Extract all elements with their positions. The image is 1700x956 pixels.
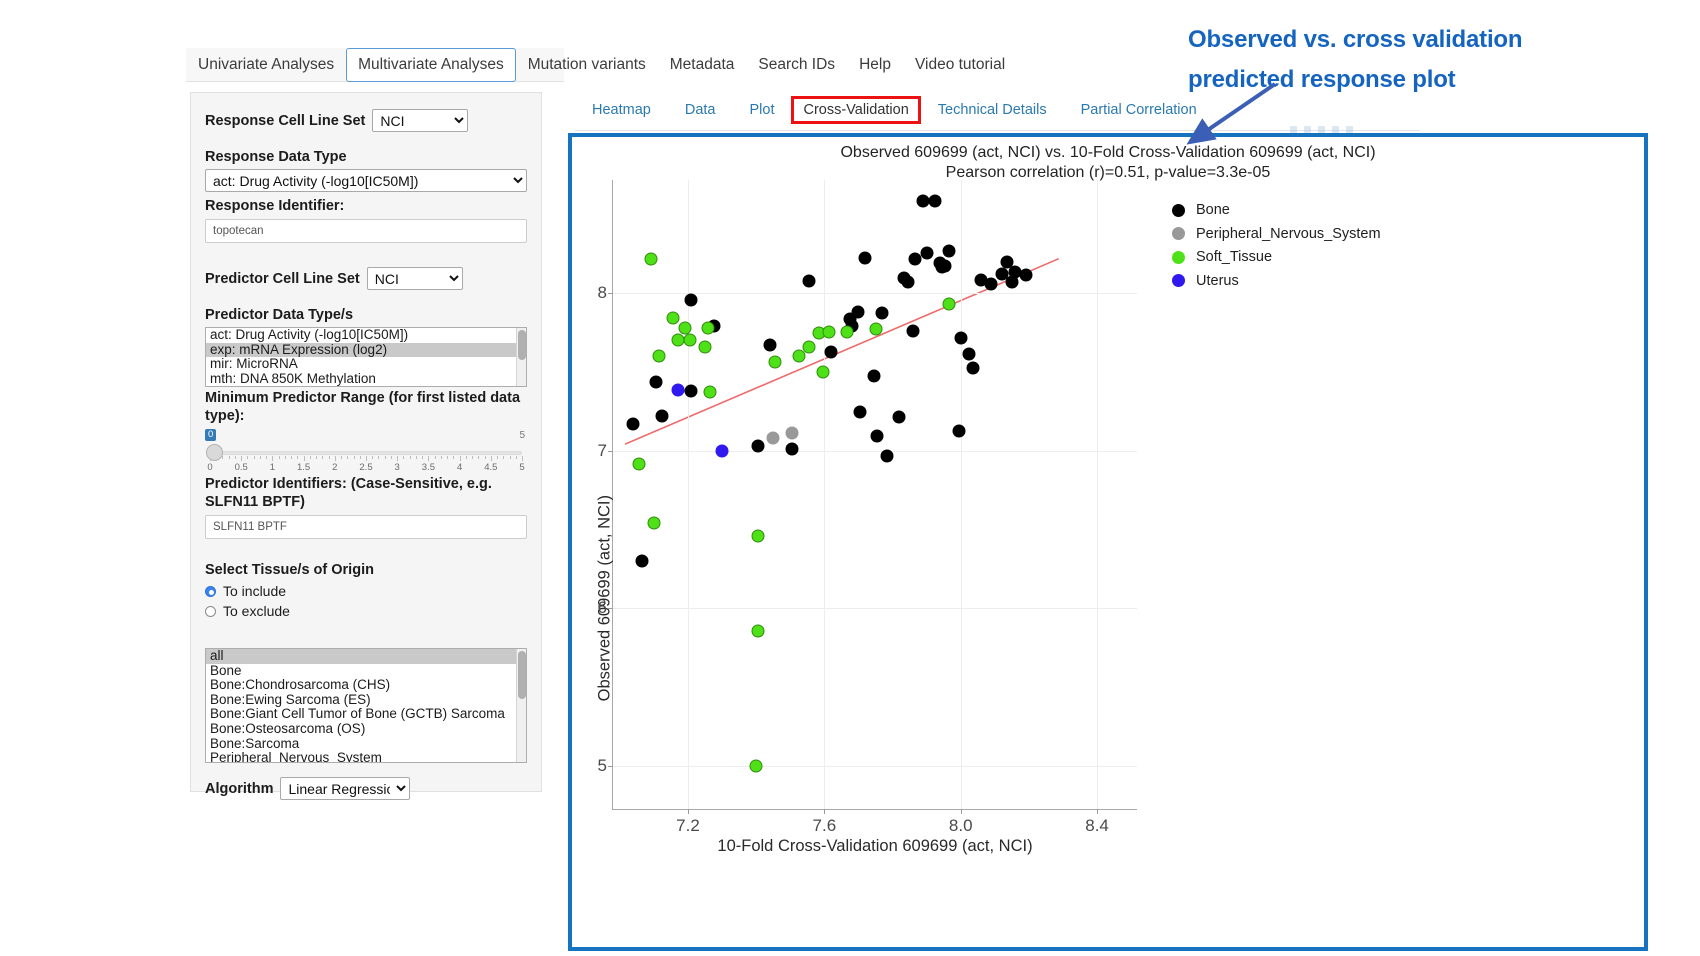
slider-tick: [460, 456, 461, 461]
scrollbar-thumb[interactable]: [518, 330, 526, 360]
response-identifier-label: Response Identifier:: [205, 197, 527, 215]
tissue-mode-radio-to-include[interactable]: To include: [205, 583, 527, 599]
nav-tab-univariate-analyses[interactable]: Univariate Analyses: [186, 48, 346, 82]
response-cell-line-set-select[interactable]: NCI: [372, 109, 468, 132]
slider-tick-label: 2.5: [359, 462, 372, 473]
slider-tick: [354, 456, 355, 459]
scatter-point-soft_tissue: [683, 333, 696, 346]
y-gridline: [613, 451, 1137, 452]
slider-tick: [304, 456, 305, 461]
nav-tab-mutation-variants[interactable]: Mutation variants: [516, 48, 658, 82]
tissue-option[interactable]: Peripheral_Nervous_System: [206, 751, 526, 763]
slider-tick: [428, 456, 429, 461]
legend-label: Bone: [1196, 202, 1230, 218]
scatter-point-bone: [954, 332, 967, 345]
y-tick-mark: [608, 766, 613, 767]
tissue-scrollbar[interactable]: [516, 649, 526, 762]
slider-tick: [291, 456, 292, 459]
scatter-point-soft_tissue: [750, 759, 763, 772]
slider-tick: [222, 456, 223, 459]
legend-item-soft_tissue[interactable]: Soft_Tissue: [1172, 246, 1381, 269]
slider-tick: [485, 456, 486, 459]
scatter-point-bone: [920, 247, 933, 260]
slider-tick: [360, 456, 361, 459]
slider-value-bubble: 0: [205, 429, 216, 441]
slider-tick-label: 3.5: [422, 462, 435, 473]
x-tick-label: 7.2: [676, 816, 700, 836]
slider-tick: [297, 456, 298, 459]
slider-tick-labels: 00.511.522.533.544.55: [205, 462, 527, 476]
slider-track[interactable]: [210, 451, 522, 455]
tissue-option[interactable]: Bone:Osteosarcoma (OS): [206, 722, 526, 737]
scatter-point-bone: [852, 305, 865, 318]
scatter-point-soft_tissue: [647, 516, 660, 529]
nav-tab-multivariate-analyses[interactable]: Multivariate Analyses: [346, 48, 516, 82]
slider-tick: [441, 456, 442, 459]
scatter-point-bone: [881, 450, 894, 463]
scatter-point-bone: [685, 294, 698, 307]
subtab-cross-validation[interactable]: Cross-Validation: [791, 96, 920, 124]
x-tick-mark: [1097, 809, 1098, 814]
annotation-arrow-icon: [1175, 78, 1285, 148]
x-tick-label: 8.4: [1085, 816, 1109, 836]
x-gridline: [1097, 180, 1098, 809]
subtab-technical-details[interactable]: Technical Details: [921, 95, 1064, 125]
subtab-heatmap[interactable]: Heatmap: [575, 95, 668, 125]
plot-legend: BonePeripheral_Nervous_SystemSoft_Tissue…: [1172, 199, 1381, 293]
slider-tick: [503, 456, 504, 459]
scatter-point-bone: [901, 275, 914, 288]
controls-sidebar: Response Cell Line Set NCI Response Data…: [190, 92, 542, 792]
x-tick-mark: [688, 809, 689, 814]
scatter-point-uterus: [671, 384, 684, 397]
legend-label: Soft_Tissue: [1196, 249, 1272, 265]
scatter-point-bone: [751, 440, 764, 453]
slider-tick: [235, 456, 236, 459]
slider-tick: [491, 456, 492, 461]
predictor-data-type-option[interactable]: mth: DNA 850K Methylation: [206, 372, 526, 387]
y-gridline: [613, 608, 1137, 609]
scatter-point-bone: [859, 251, 872, 264]
x-axis-label: 10-Fold Cross-Validation 609699 (act, NC…: [717, 837, 1032, 856]
algorithm-row: Algorithm Linear Regression: [205, 777, 527, 800]
predictor-data-types-listbox[interactable]: act: Drug Activity (-log10[IC50M])exp: m…: [205, 327, 527, 387]
slider-tick: [447, 456, 448, 459]
slider-tick: [466, 456, 467, 459]
predictor-data-types-label: Predictor Data Type/s: [205, 306, 527, 324]
scatter-point-bone: [929, 195, 942, 208]
slider-tick: [397, 456, 398, 461]
slider-tick: [310, 456, 311, 459]
scatter-point-uterus: [716, 444, 729, 457]
slider-handle[interactable]: [206, 444, 223, 461]
slider-tick: [341, 456, 342, 459]
x-tick-mark: [961, 809, 962, 814]
scatter-point-soft_tissue: [942, 297, 955, 310]
predictor-identifiers-input[interactable]: [205, 515, 527, 539]
subtab-plot[interactable]: Plot: [732, 95, 791, 125]
slider-tick: [366, 456, 367, 461]
slider-tick-label: 0: [207, 462, 212, 473]
nav-tab-video-tutorial[interactable]: Video tutorial: [903, 48, 1017, 82]
y-gridline: [613, 766, 1137, 767]
scatter-point-bone: [963, 348, 976, 361]
slider-max-label: 5: [519, 430, 525, 441]
slider-tick-label: 4.5: [484, 462, 497, 473]
scatter-point-soft_tissue: [823, 325, 836, 338]
main-nav-tabs: Univariate AnalysesMultivariate Analyses…: [186, 48, 1017, 82]
nav-tab-metadata[interactable]: Metadata: [658, 48, 747, 82]
slider-tick: [335, 456, 336, 461]
slider-tick: [241, 456, 242, 461]
response-cell-line-set-row: Response Cell Line Set NCI: [205, 109, 527, 132]
slider-tick: [478, 456, 479, 459]
slider-tick: [410, 456, 411, 459]
legend-item-uterus[interactable]: Uterus: [1172, 270, 1381, 293]
scatter-point-bone: [825, 346, 838, 359]
analysis-subtabs: HeatmapDataPlotCross-ValidationTechnical…: [575, 95, 1214, 125]
slider-tick: [285, 456, 286, 459]
slider-tick: [279, 456, 280, 459]
scatter-point-soft_tissue: [869, 322, 882, 335]
slider-tick: [372, 456, 373, 459]
scatter-point-bone: [907, 325, 920, 338]
tissue-option[interactable]: all: [206, 649, 526, 664]
scatter-point-soft_tissue: [768, 355, 781, 368]
tissue-option[interactable]: Bone: [206, 664, 526, 679]
y-tick-mark: [608, 451, 613, 452]
scatter-point-soft_tissue: [632, 458, 645, 471]
slider-tick: [416, 456, 417, 459]
y-tick-label: 5: [598, 756, 607, 776]
x-gridline: [688, 180, 689, 809]
scatter-point-bone: [785, 443, 798, 456]
app-root: Univariate AnalysesMultivariate Analyses…: [0, 0, 1700, 956]
tissue-mode-label: To include: [223, 583, 286, 599]
scatter-point-bone: [763, 338, 776, 351]
scatter-point-soft_tissue: [653, 350, 666, 363]
slider-tick-label: 1: [270, 462, 275, 473]
scatter-point-soft_tissue: [666, 311, 679, 324]
cross-validation-plot-panel: Observed 609699 (act, NCI) vs. 10-Fold C…: [568, 133, 1648, 951]
slider-tick: [247, 456, 248, 459]
scatter-point-soft_tissue: [840, 325, 853, 338]
slider-tick: [266, 456, 267, 459]
scatter-point-soft_tissue: [702, 322, 715, 335]
legend-dot-icon: [1172, 227, 1185, 240]
annotation-line-1: Observed vs. cross validation: [1188, 20, 1588, 60]
slider-tick: [385, 456, 386, 459]
min-predictor-range-label: Minimum Predictor Range (for first liste…: [205, 389, 527, 425]
scatter-point-bone: [627, 418, 640, 431]
predictor-cell-line-set-select[interactable]: NCI: [367, 267, 463, 290]
legend-item-bone[interactable]: Bone: [1172, 199, 1381, 222]
scatter-point-soft_tissue: [699, 340, 712, 353]
plot-title: Observed 609699 (act, NCI) vs. 10-Fold C…: [572, 143, 1644, 163]
predictor-identifiers-label: Predictor Identifiers: (Case-Sensitive, …: [205, 475, 527, 511]
slider-tick: [472, 456, 473, 459]
slider-tick: [316, 456, 317, 459]
legend-dot-icon: [1172, 204, 1185, 217]
scatter-point-soft_tissue: [751, 529, 764, 542]
legend-label: Peripheral_Nervous_System: [1196, 226, 1381, 242]
scatter-point-bone: [939, 259, 952, 272]
predictor-data-type-option[interactable]: mir: MicroRNA: [206, 357, 526, 372]
slider-tick-label: 4: [457, 462, 462, 473]
scatter-point-soft_tissue: [803, 340, 816, 353]
tissue-option[interactable]: Bone:Ewing Sarcoma (ES): [206, 693, 526, 708]
tissue-mode-radio-to-exclude[interactable]: To exclude: [205, 603, 527, 619]
scatter-point-bone: [1019, 269, 1032, 282]
slider-tick: [403, 456, 404, 459]
x-tick-label: 7.6: [813, 816, 837, 836]
predictor-cell-line-set-label: Predictor Cell Line Set: [205, 270, 360, 288]
predictor-data-types-scrollbar[interactable]: [516, 328, 526, 386]
min-predictor-range-slider[interactable]: 0 5 00.511.522.533.544.55: [205, 429, 527, 475]
slider-tick: [422, 456, 423, 459]
slider-tick-label: 2: [332, 462, 337, 473]
legend-item-peripheral_nervous_system[interactable]: Peripheral_Nervous_System: [1172, 223, 1381, 246]
radio-icon[interactable]: [205, 586, 216, 597]
y-tick-label: 6: [598, 598, 607, 618]
slider-tick: [522, 456, 523, 461]
slider-tick-label: 0.5: [235, 462, 248, 473]
tissue-option[interactable]: Bone:Sarcoma: [206, 737, 526, 752]
predictor-data-type-option[interactable]: exp: mRNA Expression (log2): [206, 343, 526, 358]
tissue-option[interactable]: Bone:Giant Cell Tumor of Bone (GCTB) Sar…: [206, 707, 526, 722]
x-tick-mark: [824, 809, 825, 814]
plot-axes: Observed 609699 (act, NCI) 10-Fold Cross…: [612, 180, 1137, 810]
scatter-point-soft_tissue: [816, 366, 829, 379]
slider-tick: [229, 456, 230, 459]
nav-tab-help[interactable]: Help: [847, 48, 903, 82]
scatter-point-bone: [871, 429, 884, 442]
nav-tab-search-ids[interactable]: Search IDs: [746, 48, 847, 82]
scatter-point-bone: [685, 385, 698, 398]
response-data-type-label: Response Data Type: [205, 148, 527, 166]
scatter-point-bone: [656, 410, 669, 423]
scatter-point-soft_tissue: [704, 385, 717, 398]
slider-tick: [260, 456, 261, 459]
tissue-of-origin-label: Select Tissue/s of Origin: [205, 561, 527, 579]
slider-tick: [378, 456, 379, 459]
regression-fit-line: [613, 180, 1137, 809]
slider-tick: [347, 456, 348, 459]
slider-tick: [497, 456, 498, 459]
tissue-option[interactable]: Bone:Chondrosarcoma (CHS): [206, 678, 526, 693]
scatter-point-bone: [867, 370, 880, 383]
tissue-mode-radio-group: To includeTo exclude: [205, 583, 527, 619]
y-tick-label: 7: [598, 441, 607, 461]
predictor-cell-line-set-row: Predictor Cell Line Set NCI: [205, 267, 527, 290]
y-tick-label: 8: [598, 283, 607, 303]
scatter-point-bone: [635, 555, 648, 568]
slider-tick: [322, 456, 323, 459]
scrollbar-thumb[interactable]: [518, 651, 526, 699]
scatter-point-bone: [854, 406, 867, 419]
scatter-point-bone: [953, 425, 966, 438]
scatter-point-bone: [876, 307, 889, 320]
scatter-point-bone: [966, 362, 979, 375]
scatter-point-bone: [985, 277, 998, 290]
slider-tick-label: 1.5: [297, 462, 310, 473]
slider-tick-label: 5: [519, 462, 524, 473]
response-data-type-select[interactable]: act: Drug Activity (-log10[IC50M]): [205, 169, 527, 192]
slider-tick: [510, 456, 511, 459]
slider-tick: [453, 456, 454, 459]
x-gridline: [824, 180, 825, 809]
legend-label: Uterus: [1196, 273, 1239, 289]
scatter-point-peripheral_nervous_system: [785, 426, 798, 439]
slider-tick: [391, 456, 392, 459]
x-gridline: [961, 180, 962, 809]
algorithm-label: Algorithm: [205, 780, 273, 798]
slider-tick: [254, 456, 255, 459]
legend-dot-icon: [1172, 251, 1185, 264]
algorithm-select[interactable]: Linear Regression: [280, 777, 410, 800]
scatter-point-peripheral_nervous_system: [767, 431, 780, 444]
x-tick-label: 8.0: [949, 816, 973, 836]
y-tick-mark: [608, 608, 613, 609]
scatter-point-bone: [803, 274, 816, 287]
slider-tick: [272, 456, 273, 461]
y-tick-mark: [608, 293, 613, 294]
scatter-point-bone: [649, 375, 662, 388]
response-identifier-input[interactable]: [205, 219, 527, 243]
radio-icon[interactable]: [205, 606, 216, 617]
scatter-point-bone: [893, 411, 906, 424]
subtab-data[interactable]: Data: [668, 95, 733, 125]
predictor-data-type-option[interactable]: act: Drug Activity (-log10[IC50M]): [206, 328, 526, 343]
scatter-point-soft_tissue: [644, 252, 657, 265]
response-cell-line-set-label: Response Cell Line Set: [205, 112, 365, 130]
tissue-listbox[interactable]: allBoneBone:Chondrosarcoma (CHS)Bone:Ewi…: [205, 648, 527, 763]
slider-tick: [516, 456, 517, 459]
scatter-point-bone: [942, 244, 955, 257]
legend-dot-icon: [1172, 274, 1185, 287]
scatter-point-soft_tissue: [751, 625, 764, 638]
slider-tick-label: 3: [395, 462, 400, 473]
tissue-mode-label: To exclude: [223, 603, 290, 619]
slider-tick: [435, 456, 436, 459]
slider-tick: [329, 456, 330, 459]
